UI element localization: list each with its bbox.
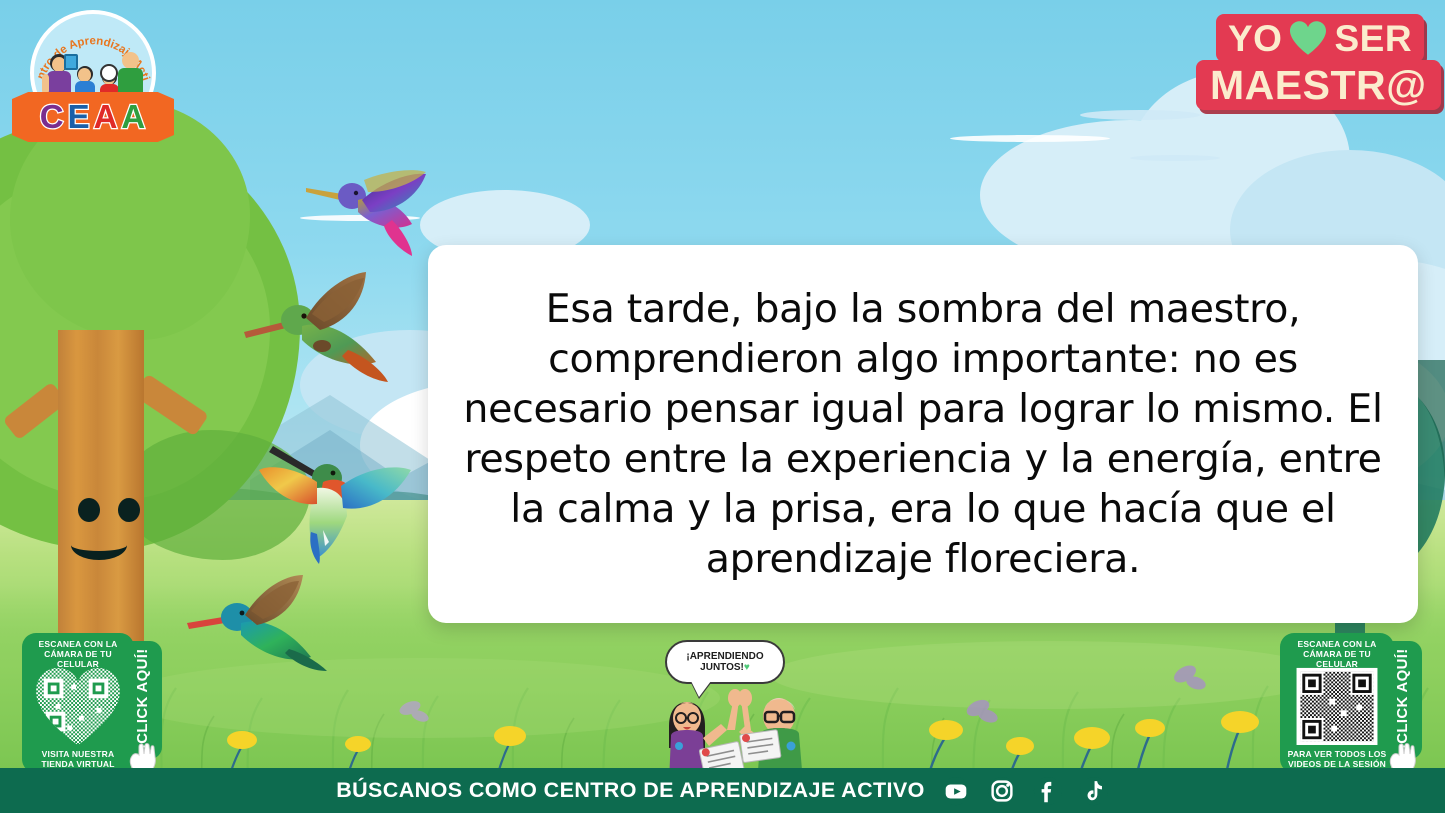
bubble-line-2-wrap: JUNTOS!♥ [700,662,750,674]
youtube-icon[interactable] [941,776,971,806]
tiktok-icon[interactable] [1079,776,1109,806]
bottom-bar: BÚSCANOS COMO CENTRO DE APRENDIZAJE ACTI… [0,768,1445,813]
click-label-left: ¡CLICK AQUÍ! [134,648,151,749]
qr-panel-right[interactable]: ¡CLICK AQUÍ! ESCANEA CON LA CÁMARA DE TU… [1280,633,1432,778]
badge-line-2: MAESTR@ [1196,60,1441,110]
yo-amo-ser-maestro-badge[interactable]: YO SER MAESTR@ [1196,8,1431,116]
logo-letter-a1: A [94,98,119,136]
qr-panel-left[interactable]: ¡CLICK AQUÍ! ESCANEA CON LA CÁMARA DE TU… [22,633,172,778]
logo-banner-text: C E A A [12,92,174,142]
main-text-card: Esa tarde, bajo la sombra del maestro, c… [428,245,1418,623]
qr-caption-bottom-left: VISITA NUESTRA TIENDA VIRTUAL [28,749,128,769]
logo-banner: C E A A [12,92,174,142]
hummingbird-purple [300,160,430,275]
badge-line-1: YO SER [1216,14,1424,62]
qr-caption-bottom-right: PARA VER TODOS LOS VIDEOS DE LA SESIÓN [1286,749,1388,769]
teachers-illustration: ¡APRENDIENDO JUNTOS!♥ [655,640,830,780]
qr-box-left[interactable]: ESCANEA CON LA CÁMARA DE TU CELULAR [22,633,134,773]
hummingbird-teal [185,565,330,675]
heart-icon [1288,20,1328,56]
logo-letter-c: C [40,98,65,136]
click-label-right: ¡CLICK AQUÍ! [1394,648,1411,749]
logo-ceaa[interactable]: Centro de Aprendizaje Activo [8,6,178,146]
logo-soccer-ball [100,64,118,82]
bubble-line-2: JUNTOS! [700,662,744,673]
badge-yo-text: YO [1228,20,1282,57]
hummingbird-rainbow [255,430,415,565]
poster-canvas: Centro de Aprendizaje Activo [0,0,1445,813]
logo-letter-a2: A [121,98,146,136]
qr-caption-top-right: ESCANEA CON LA CÁMARA DE TU CELULAR [1286,639,1388,669]
tree-trunk [58,330,144,660]
qr-code-heart-left[interactable] [31,665,125,747]
tree-eye-left [78,498,100,522]
qr-code-square-right[interactable] [1291,666,1383,747]
hummingbird-brown-green [240,270,390,395]
bottom-bar-text: BÚSCANOS COMO CENTRO DE APRENDIZAJE ACTI… [336,778,925,803]
badge-maestro-text: MAESTR@ [1210,65,1427,106]
badge-ser-text: SER [1334,20,1412,57]
facebook-icon[interactable] [1033,776,1063,806]
main-text: Esa tarde, bajo la sombra del maestro, c… [454,284,1392,585]
instagram-icon[interactable] [987,776,1017,806]
tree-eye-right [118,498,140,522]
bubble-line-1: ¡APRENDIENDO [686,651,763,663]
tree-smile [71,530,127,560]
logo-tablet [64,54,78,70]
qr-box-right[interactable]: ESCANEA CON LA CÁMARA DE TU CELULAR [1280,633,1394,773]
heart-icon: ♥ [744,662,750,673]
logo-letter-e: E [68,98,91,136]
speech-bubble: ¡APRENDIENDO JUNTOS!♥ [665,640,785,684]
